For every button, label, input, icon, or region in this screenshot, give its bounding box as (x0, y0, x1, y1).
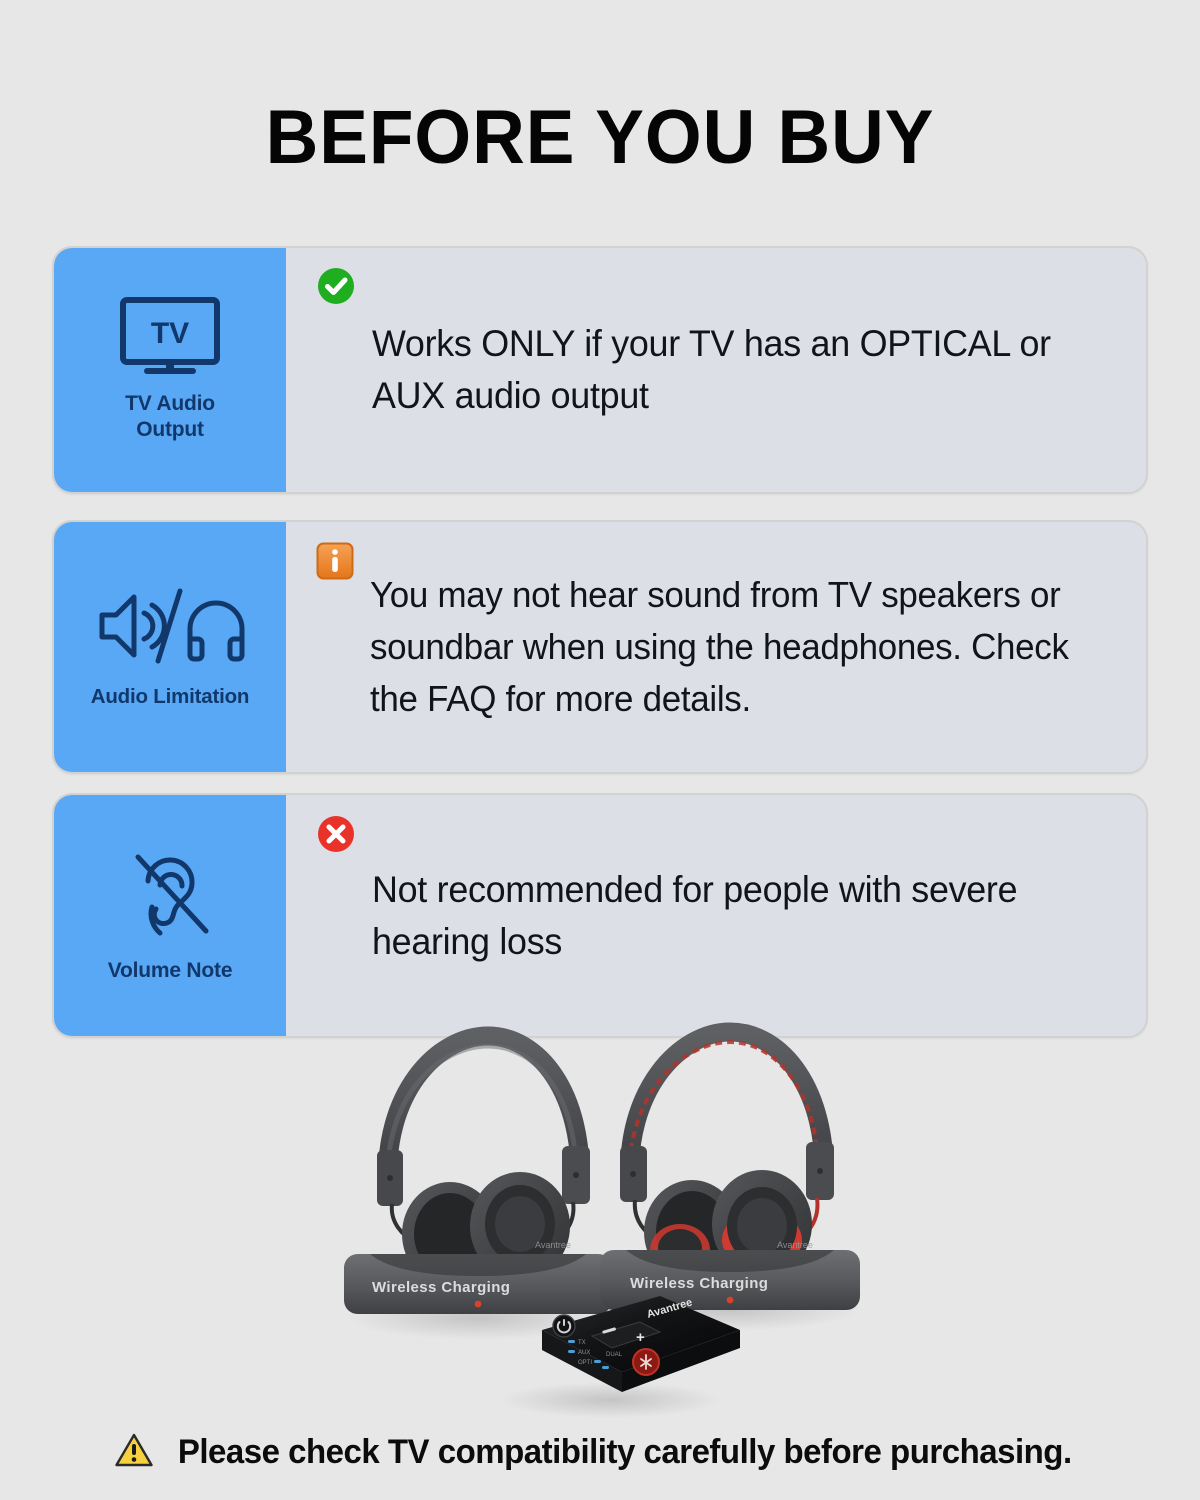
card-icon-panel: Audio Limitation (54, 522, 286, 772)
card-label: TV AudioOutput (125, 391, 215, 443)
card-label: Audio Limitation (91, 684, 250, 710)
svg-text:Avantree: Avantree (535, 1240, 571, 1250)
svg-text:Avantree: Avantree (777, 1240, 813, 1250)
svg-text:TV: TV (151, 317, 189, 350)
svg-text:AUX: AUX (578, 1350, 590, 1356)
headphone-left: Avantree Wireless Charging (344, 1036, 612, 1314)
card-body-text: Not recommended for people with severe h… (372, 864, 1098, 968)
card-audio-limitation: Audio Limitation You may n (52, 520, 1148, 774)
product-image: Avantree Wireless Charging (330, 1000, 890, 1430)
warning-triangle-icon (114, 1432, 154, 1473)
card-content: You may not hear sound from TV speakers … (286, 522, 1146, 772)
check-circle-icon (316, 266, 356, 311)
card-icon-panel: TV TV AudioOutput (54, 248, 286, 492)
card-icon-panel: Volume Note (54, 795, 286, 1036)
infographic-page: BEFORE YOU BUY TV TV AudioOutput Work (0, 0, 1200, 1500)
footer-warning-text: Please check TV compatibility carefully … (178, 1433, 1072, 1472)
svg-text:+: + (636, 1329, 645, 1346)
card-tv-audio-output: TV TV AudioOutput Works ONLY if your TV … (52, 246, 1148, 494)
ear-slash-icon (122, 845, 218, 948)
svg-text:Wireless Charging: Wireless Charging (372, 1279, 510, 1296)
footer-warning: Please check TV compatibility carefully … (0, 1432, 1200, 1473)
tv-monitor-icon: TV (118, 296, 222, 381)
card-content: Works ONLY if your TV has an OPTICAL or … (286, 248, 1146, 492)
svg-text:DUAL: DUAL (606, 1352, 623, 1358)
page-title: BEFORE YOU BUY (24, 96, 1176, 180)
card-body-text: You may not hear sound from TV speakers … (370, 569, 1098, 725)
speaker-slash-headphones-icon (94, 583, 246, 674)
card-body-text: Works ONLY if your TV has an OPTICAL or … (372, 318, 1098, 422)
svg-text:Wireless Charging: Wireless Charging (630, 1275, 768, 1292)
svg-text:OPTI: OPTI (578, 1360, 592, 1366)
svg-text:TX: TX (578, 1340, 586, 1346)
info-square-icon (316, 542, 354, 585)
card-label: Volume Note (108, 958, 233, 984)
x-circle-icon (316, 814, 356, 859)
headphone-right: Avantree Wireless Charging (600, 1032, 860, 1310)
